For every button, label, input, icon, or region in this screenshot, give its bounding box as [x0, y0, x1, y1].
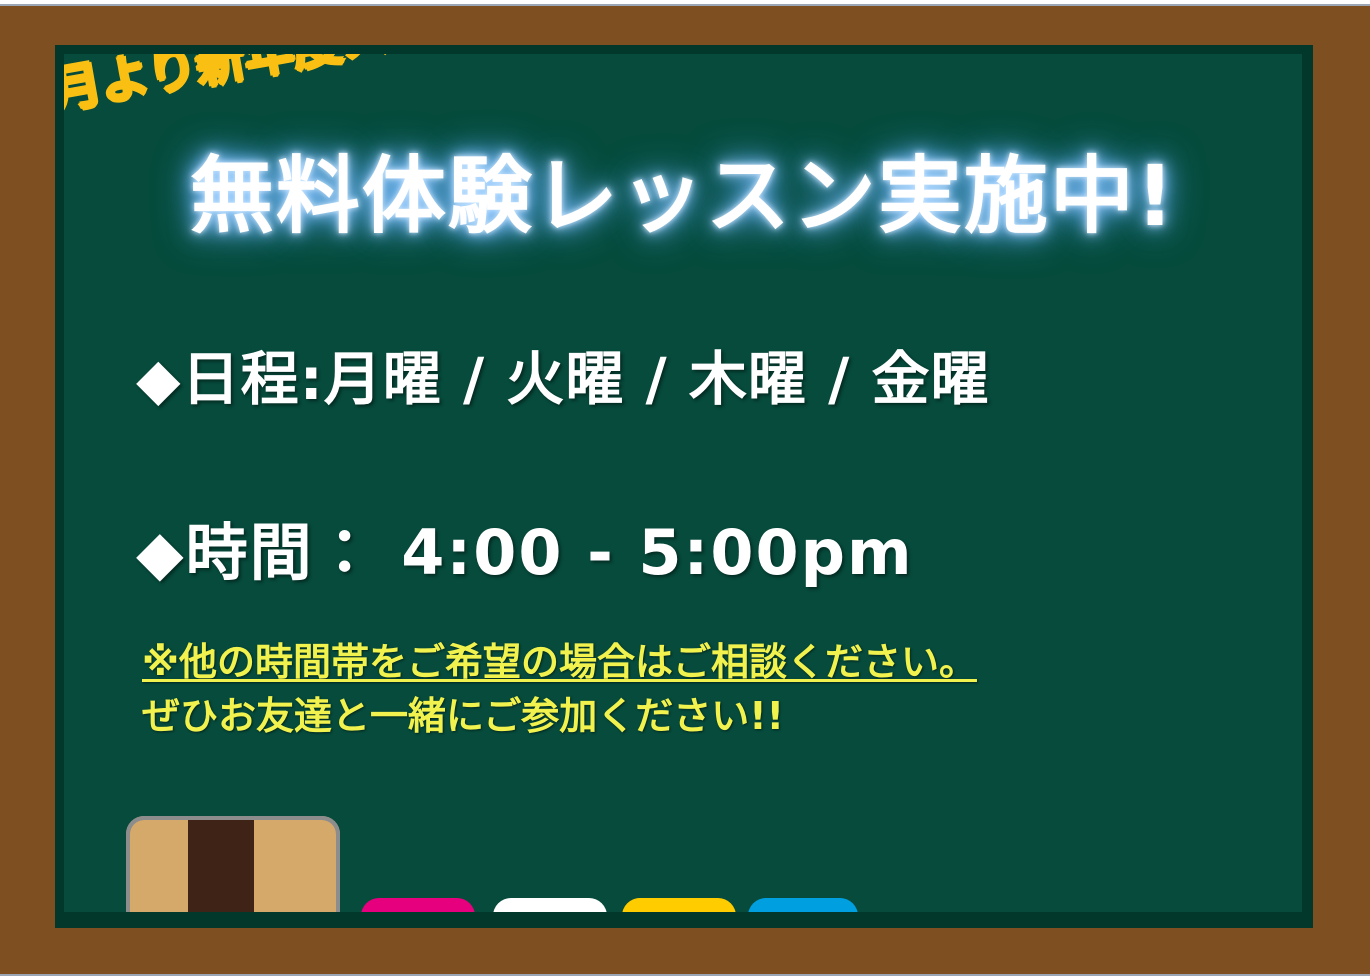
eraser-rim: [126, 816, 340, 912]
note-line-other-times: ※他の時間帯をご希望の場合はご相談ください。: [142, 636, 977, 690]
notes-block: ※他の時間帯をご希望の場合はご相談ください。 ぜひお友達と一緒にご参加ください!…: [142, 636, 977, 744]
chalk-magenta-icon: [361, 898, 475, 912]
info-schedule-text: ◆日程:月曜 / 火曜 / 木曜 / 金曜: [136, 345, 990, 413]
info-schedule-line: ◆日程:月曜 / 火曜 / 木曜 / 金曜: [136, 332, 990, 416]
info-time-text: ◆時間： 4:00 - 5:00pm: [136, 516, 914, 589]
new-year-banner-text: 3月より新年度スタート!: [64, 54, 575, 124]
chalk-blue-icon: [748, 898, 858, 912]
info-time-line: ◆時間： 4:00 - 5:00pm: [136, 502, 914, 592]
chalk-yellow-icon: [622, 898, 736, 912]
new-year-banner: 3月より新年度スタート!: [64, 54, 575, 124]
poster-canvas: 3月より新年度スタート! 無料体験レッスン実施中! ◆日程:月曜 / 火曜 / …: [0, 0, 1370, 980]
blackboard-eraser-icon: [126, 816, 340, 912]
canvas-bottom-edge: [0, 974, 1370, 980]
note-line-bring-friends: ぜひお友達と一緒にご参加ください!!: [142, 690, 977, 744]
page-title: 無料体験レッスン実施中!: [64, 150, 1302, 242]
chalkboard: 3月より新年度スタート! 無料体験レッスン実施中! ◆日程:月曜 / 火曜 / …: [55, 45, 1313, 928]
chalk-white-icon: [493, 898, 607, 912]
page-title-text: 無料体験レッスン実施中!: [190, 150, 1176, 242]
canvas-top-edge: [0, 0, 1370, 6]
chalkboard-surface: 3月より新年度スタート! 無料体験レッスン実施中! ◆日程:月曜 / 火曜 / …: [64, 54, 1302, 912]
